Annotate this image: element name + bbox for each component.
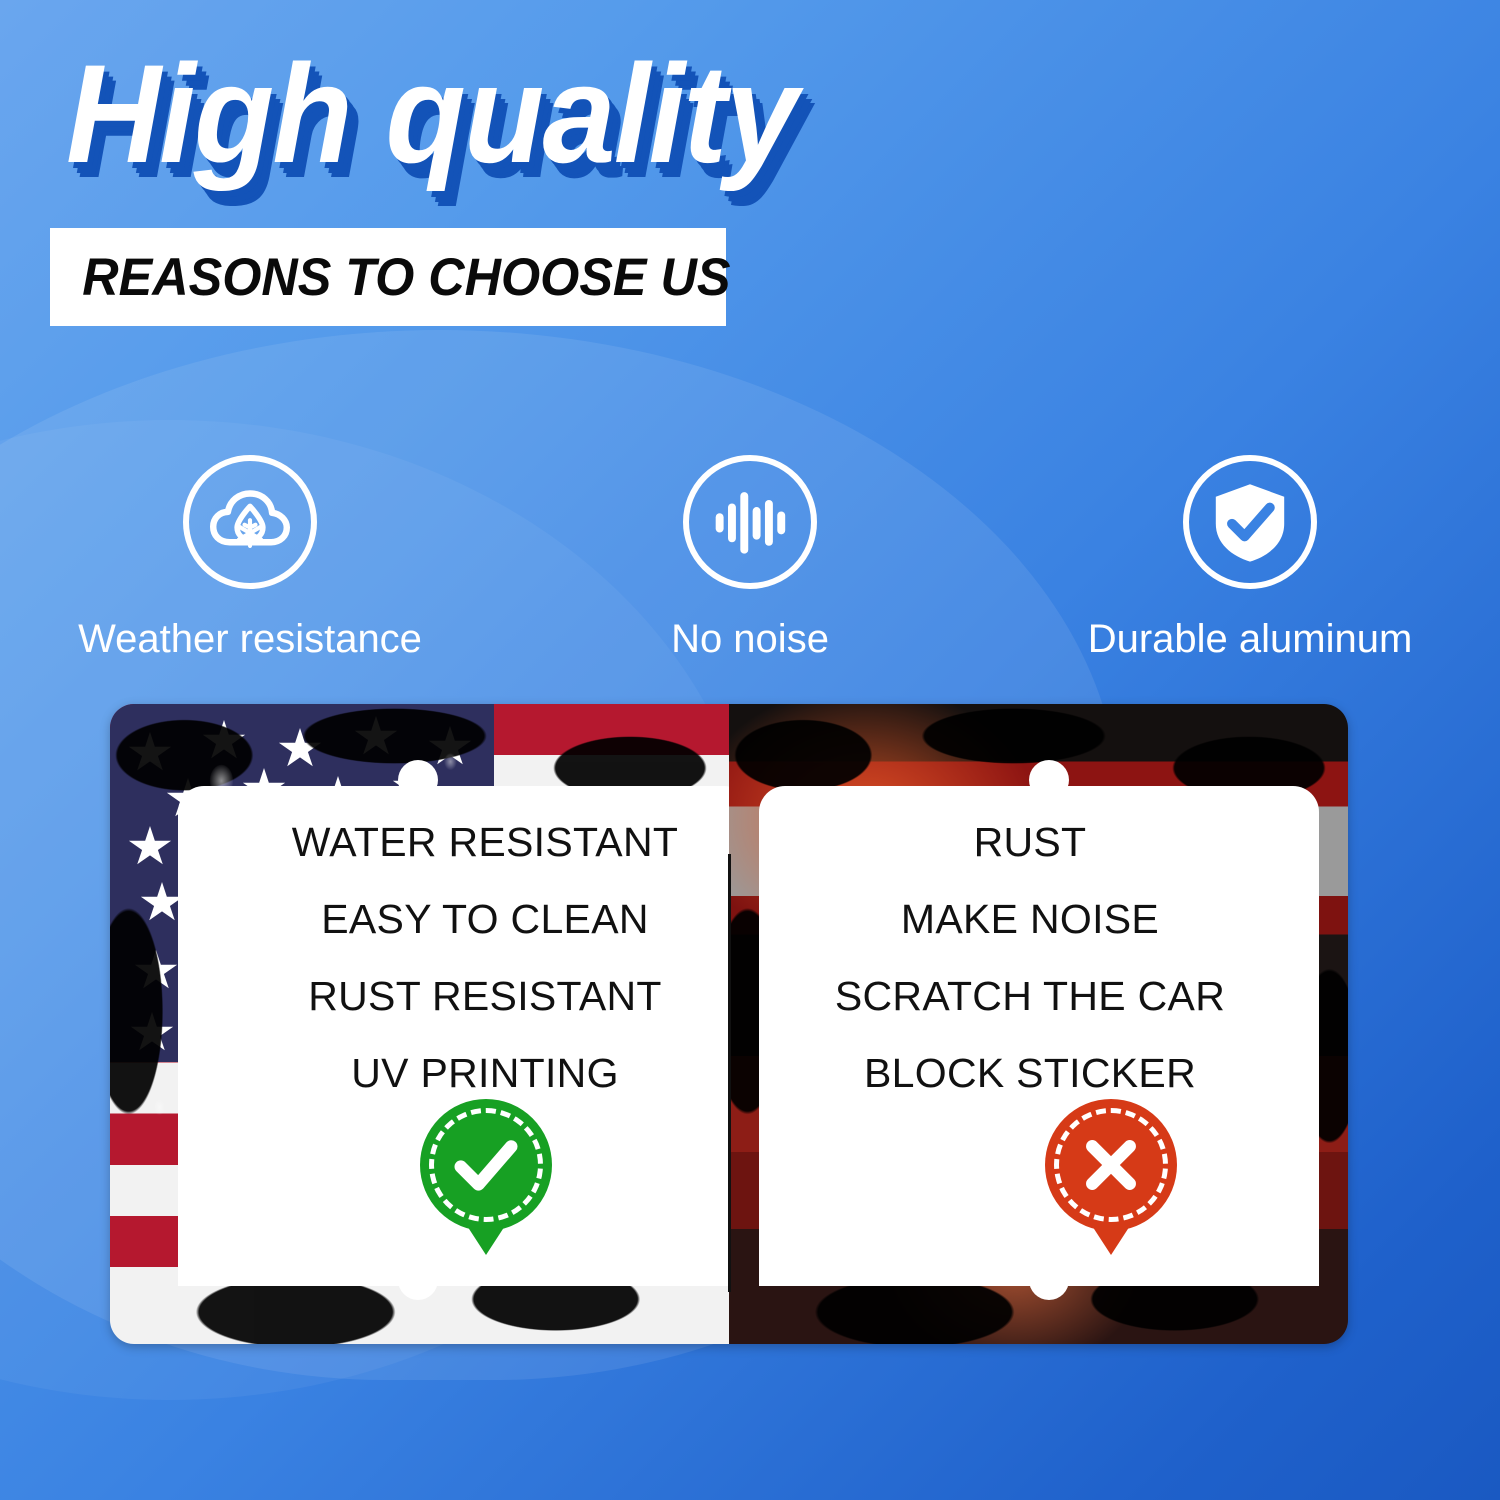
- feature-row: Weather resistance No noise: [0, 455, 1500, 662]
- list-item: WATER RESISTANT: [220, 822, 750, 863]
- page-title: High quality: [66, 44, 796, 184]
- list-item: BLOCK STICKER: [760, 1053, 1300, 1094]
- cons-badge: [1045, 1099, 1177, 1231]
- feature-label: Weather resistance: [78, 617, 422, 662]
- license-plate-frame-comparison: WATER RESISTANT EASY TO CLEAN RUST RESIS…: [110, 704, 1348, 1344]
- sound-wave-icon: [683, 455, 817, 589]
- list-item: EASY TO CLEAN: [220, 899, 750, 940]
- subtitle-text: REASONS TO CHOOSE US: [50, 247, 730, 308]
- shield-check-icon: [1183, 455, 1317, 589]
- feature-no-noise: No noise: [500, 455, 1000, 662]
- infographic-canvas: High quality REASONS TO CHOOSE US: [0, 0, 1500, 1500]
- list-item: MAKE NOISE: [760, 899, 1300, 940]
- pros-badge: [420, 1099, 552, 1231]
- list-item: SCRATCH THE CAR: [760, 976, 1300, 1017]
- cross-mark-icon: [1072, 1126, 1150, 1204]
- feature-durable-aluminum: Durable aluminum: [1000, 455, 1500, 662]
- cons-list: RUST MAKE NOISE SCRATCH THE CAR BLOCK ST…: [760, 822, 1300, 1130]
- feature-label: Durable aluminum: [1088, 617, 1413, 662]
- list-item: UV PRINTING: [220, 1053, 750, 1094]
- feature-label: No noise: [671, 617, 829, 662]
- center-divider: [728, 854, 731, 1292]
- list-item: RUST RESISTANT: [220, 976, 750, 1017]
- feature-weather-resistance: Weather resistance: [0, 455, 500, 662]
- pros-list: WATER RESISTANT EASY TO CLEAN RUST RESIS…: [220, 822, 750, 1130]
- list-item: RUST: [760, 822, 1300, 863]
- check-mark-icon: [444, 1123, 528, 1207]
- subtitle-banner: REASONS TO CHOOSE US: [50, 228, 726, 326]
- weather-cloud-droplet-snowflake-icon: [183, 455, 317, 589]
